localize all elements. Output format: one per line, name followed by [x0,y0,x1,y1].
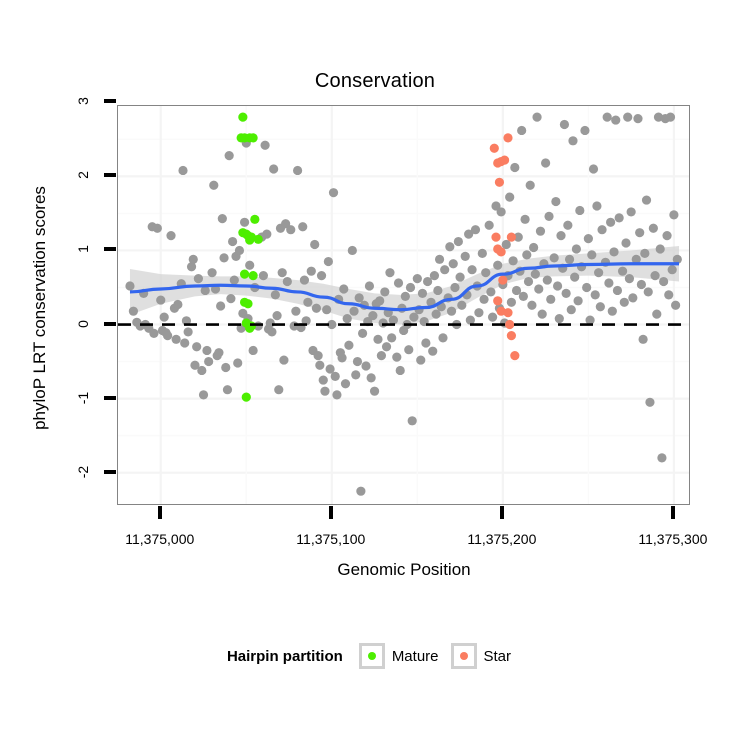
data-point-other [184,327,193,336]
data-point-other [319,375,328,384]
data-point-other [310,240,319,249]
data-point-other [221,363,230,372]
data-point-other [267,327,276,336]
data-point-other [596,302,605,311]
x-axis-title: Genomic Position [117,560,691,580]
data-point-other [493,261,502,270]
data-point-other [337,353,346,362]
data-point-other [461,252,470,261]
data-point-other [538,310,547,319]
data-point-other [527,301,536,310]
data-point-star [510,351,519,360]
data-point-other [568,136,577,145]
legend-entries: MatureStar [359,643,523,669]
data-point-other [467,265,476,274]
data-point-other [580,126,589,135]
legend-title: Hairpin partition [227,648,343,665]
data-point-other [351,370,360,379]
data-point-other [348,246,357,255]
data-point-other [153,224,162,233]
data-point-other [324,257,333,266]
data-point-other [367,373,376,382]
data-point-other [589,164,598,173]
x-tick-label: 11,375,200 [432,531,572,547]
data-point-other [428,347,437,356]
data-point-other [197,366,206,375]
data-point-other [416,355,425,364]
legend-label: Mature [392,648,439,665]
data-point-other [507,298,516,307]
y-tick-mark [104,247,116,251]
data-point-mature [250,215,259,224]
data-point-other [633,114,642,123]
data-point-other [365,281,374,290]
plot-canvas [118,106,690,505]
y-tick-label-text: 2 [75,154,91,196]
data-point-other [637,280,646,289]
data-point-other [532,113,541,122]
data-point-other [662,231,671,240]
data-point-other [645,398,654,407]
data-point-other [671,301,680,310]
data-point-other [575,206,584,215]
data-point-mature [238,113,247,122]
data-point-other [307,267,316,276]
data-point-star [507,233,516,242]
y-axis-title: phyloP LRT conservation scores [30,108,50,508]
data-point-other [230,275,239,284]
data-point-other [649,224,658,233]
y-tick-label-text: -2 [75,451,91,493]
data-point-other [228,237,237,246]
data-point-other [349,307,358,316]
data-point-other [218,214,227,223]
data-point-star [503,133,512,142]
data-point-other [125,281,134,290]
data-point-other [260,141,269,150]
data-point-other [664,290,673,299]
data-point-other [380,287,389,296]
data-point-star [493,296,502,305]
data-point-other [497,207,506,216]
data-point-other [341,379,350,388]
data-point-other [666,113,675,122]
data-point-other [216,301,225,310]
data-point-other [274,385,283,394]
data-point-other [225,151,234,160]
data-point-other [565,255,574,264]
data-point-other [355,293,364,302]
data-point-other [409,313,418,322]
data-point-other [329,188,338,197]
x-tick-label: 11,375,100 [261,531,401,547]
data-point-other [382,342,391,351]
y-tick-mark [104,99,116,103]
data-point-other [266,318,275,327]
data-point-other [315,361,324,370]
data-point-other [582,283,591,292]
data-point-other [178,166,187,175]
data-point-other [226,294,235,303]
data-point-other [194,274,203,283]
legend-dot-icon [368,652,376,660]
y-tick-label-text: 3 [75,80,91,122]
data-point-other [356,487,365,496]
data-point-other [594,268,603,277]
y-tick-mark [104,322,116,326]
data-point-other [609,247,618,256]
data-point-other [623,113,632,122]
data-point-other [214,348,223,357]
data-point-other [331,372,340,381]
legend-entry-mature[interactable]: Mature [359,643,439,669]
data-point-other [278,268,287,277]
x-tick-label: 11,375,000 [90,531,230,547]
data-point-other [481,268,490,277]
data-point-other [207,268,216,277]
y-tick-mark [104,396,116,400]
data-point-other [377,351,386,360]
data-point-other [314,351,323,360]
data-point-other [438,333,447,342]
data-point-other [526,181,535,190]
x-tick-label: 11,375,300 [603,531,743,547]
data-point-other [303,298,312,307]
data-point-other [656,244,665,253]
data-point-other [322,305,331,314]
data-point-other [621,238,630,247]
data-point-other [373,335,382,344]
data-point-mature [254,235,263,244]
data-point-other [172,335,181,344]
data-point-other [642,195,651,204]
data-point-other [522,250,531,259]
data-point-mature [242,393,251,402]
data-point-other [245,261,254,270]
data-point-other [531,270,540,279]
data-point-other [156,295,165,304]
data-point-other [129,307,138,316]
data-point-other [353,357,362,366]
data-point-other [320,387,329,396]
data-point-other [160,313,169,322]
data-point-other [536,227,545,236]
data-point-other [644,287,653,296]
data-point-other [669,210,678,219]
y-tick-label: 0 [62,316,104,332]
data-point-other [563,221,572,230]
data-point-other [556,231,565,240]
data-point-other [404,345,413,354]
data-point-other [180,338,189,347]
data-point-other [520,215,529,224]
data-point-other [517,126,526,135]
data-point-other [620,298,629,307]
data-point-other [283,277,292,286]
data-point-other [450,283,459,292]
y-tick-mark [104,173,116,177]
data-point-other [505,193,514,202]
data-point-other [394,278,403,287]
data-point-other [668,265,677,274]
data-point-star [497,247,506,256]
data-point-other [166,231,175,240]
data-point-other [592,201,601,210]
data-point-other [591,290,600,299]
y-tick-label: 2 [62,167,104,183]
data-point-other [639,335,648,344]
data-point-other [445,242,454,251]
data-point-other [435,255,444,264]
legend-key [359,643,385,669]
data-point-other [406,283,415,292]
data-point-other [259,271,268,280]
data-point-other [271,290,280,299]
data-point-other [613,286,622,295]
data-point-other [541,158,550,167]
data-point-other [375,296,384,305]
data-point-other [421,338,430,347]
data-point-other [339,284,348,293]
data-point-other [479,295,488,304]
data-point-other [604,278,613,287]
x-tick-mark [500,506,504,519]
data-point-other [615,213,624,222]
conservation-chart: Conservation phyloP LRT conservation sco… [0,0,750,750]
data-point-other [606,218,615,227]
data-point-other [233,358,242,367]
data-point-other [291,307,300,316]
data-point-other [597,225,606,234]
data-point-other [209,181,218,190]
data-point-other [486,287,495,296]
data-point-other [584,234,593,243]
data-point-other [272,311,281,320]
legend: Hairpin partition MatureStar [0,643,750,669]
legend-entry-star[interactable]: Star [451,643,512,669]
data-point-other [474,308,483,317]
data-point-other [370,387,379,396]
data-point-other [608,307,617,316]
data-point-star [507,331,516,340]
data-point-other [562,289,571,298]
data-point-other [344,341,353,350]
data-point-other [519,292,528,301]
data-point-other [269,164,278,173]
page-title: Conservation [0,70,750,93]
data-point-other [408,416,417,425]
data-point-other [300,275,309,284]
data-point-other [603,113,612,122]
data-point-other [485,221,494,230]
data-point-mature [249,133,258,142]
data-point-other [455,273,464,282]
data-point-other [555,314,564,323]
data-point-other [358,329,367,338]
data-point-other [149,329,158,338]
y-tick-label: 1 [62,241,104,257]
legend-dot-icon [460,652,468,660]
data-point-other [235,246,244,255]
y-tick-label-text: -1 [75,377,91,419]
data-point-other [240,218,249,227]
y-tick-label: -1 [62,390,104,406]
data-point-other [567,305,576,314]
data-point-other [457,301,466,310]
y-tick-label: 3 [62,93,104,109]
data-point-other [262,230,271,239]
data-point-other [652,310,661,319]
data-point-other [385,268,394,277]
data-point-star [503,308,512,317]
data-point-other [454,237,463,246]
data-point-other [192,342,201,351]
data-point-other [189,255,198,264]
data-point-other [534,284,543,293]
data-point-other [449,259,458,268]
y-tick-label-text: 0 [75,303,91,345]
data-point-other [293,166,302,175]
data-point-other [368,311,377,320]
data-point-star [498,275,507,284]
data-point-other [332,390,341,399]
data-point-other [401,292,410,301]
data-point-other [317,271,326,280]
data-point-star [500,155,509,164]
data-point-mature [249,271,258,280]
data-point-other [560,120,569,129]
data-point-other [574,296,583,305]
data-point-star [490,144,499,153]
data-points [125,113,682,496]
legend-label: Star [484,648,512,665]
data-point-other [392,353,401,362]
data-point-other [430,271,439,280]
data-point-other [546,295,555,304]
data-point-mature [243,299,252,308]
data-point-other [343,314,352,323]
legend-key [451,643,477,669]
data-point-other [553,281,562,290]
data-point-other [325,364,334,373]
data-point-other [572,244,581,253]
data-point-other [202,346,211,355]
data-point-other [570,273,579,282]
y-tick-mark [104,470,116,474]
x-tick-mark [329,506,333,519]
data-point-other [471,225,480,234]
data-point-other [286,225,295,234]
data-point-other [524,277,533,286]
data-point-star [505,320,514,329]
data-point-other [361,361,370,370]
data-point-other [502,240,511,249]
data-point-other [543,275,552,284]
data-point-other [550,253,559,262]
plot-panel [117,105,690,505]
data-point-other [204,357,213,366]
data-point-mature [245,235,254,244]
data-point-other [433,286,442,295]
data-point-other [628,293,637,302]
data-point-other [618,267,627,276]
data-point-other [657,453,666,462]
data-point-other [611,115,620,124]
y-tick-label-text: 1 [75,228,91,270]
data-point-other [396,366,405,375]
data-point-other [418,289,427,298]
data-point-other [219,253,228,262]
data-point-other [509,256,518,265]
data-point-other [387,333,396,342]
data-point-other [478,249,487,258]
x-tick-mark [158,506,162,519]
data-point-other [163,331,172,340]
data-point-other [432,310,441,319]
data-point-other [298,222,307,231]
data-point-other [279,355,288,364]
data-point-star [491,233,500,242]
data-point-other [488,313,497,322]
data-point-other [510,163,519,172]
data-point-other [640,249,649,258]
data-point-other [447,307,456,316]
data-point-other [173,300,182,309]
data-point-other [635,228,644,237]
data-point-other [440,265,449,274]
x-tick-mark [671,506,675,519]
data-point-star [495,178,504,187]
data-point-other [529,243,538,252]
data-point-mature [240,270,249,279]
data-point-other [199,390,208,399]
data-point-other [587,250,596,259]
data-point-other [249,346,258,355]
data-point-other [627,207,636,216]
data-point-other [650,271,659,280]
data-point-other [659,277,668,286]
y-tick-label: -2 [62,464,104,480]
data-point-other [413,274,422,283]
data-point-other [312,304,321,313]
data-point-other [544,212,553,221]
data-point-other [625,274,634,283]
data-point-other [223,385,232,394]
data-point-other [551,197,560,206]
data-point-other [379,318,388,327]
